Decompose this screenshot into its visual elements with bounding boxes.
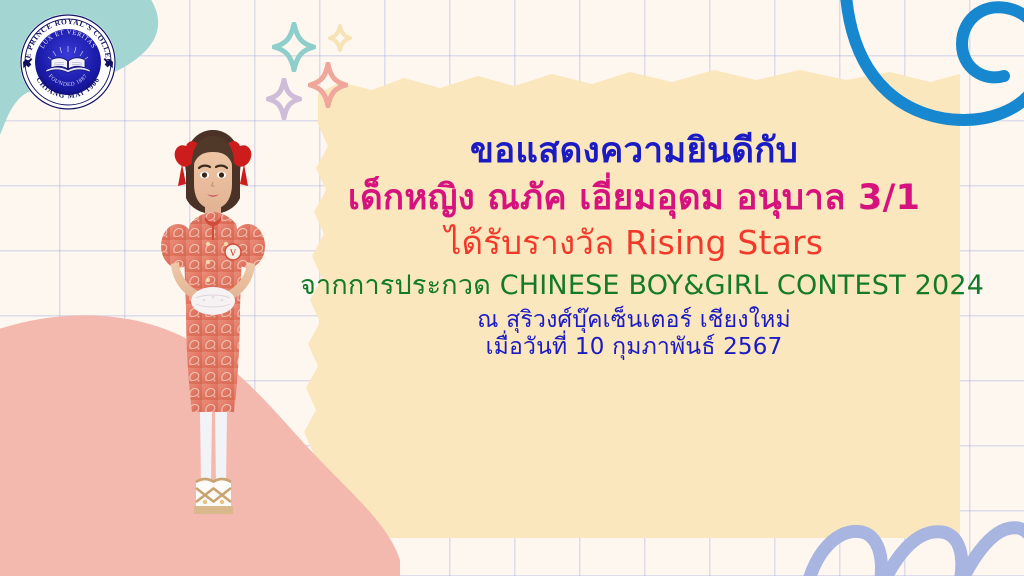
award-line: ได้รับรางวัล Rising Stars: [300, 225, 968, 262]
sparkle-salmon-icon: [308, 62, 348, 108]
date-line: เมื่อวันที่ 10 กุมภาพันธ์ 2567: [300, 335, 968, 361]
congratulations-poster: THE PRINCE ROYAL'S COLLEGE CHIANG MAI 19…: [0, 0, 1024, 576]
student-name-line: เด็กหญิง ณภัค เอี่ยมอุดม อนุบาล 3/1: [300, 179, 968, 218]
student-photo: V: [138, 112, 288, 532]
swirl-periwinkle-loops-decoration: [800, 470, 1024, 576]
school-logo: THE PRINCE ROYAL'S COLLEGE CHIANG MAI 19…: [18, 12, 118, 112]
congratulations-line: ขอแสดงความยินดีกับ: [300, 132, 968, 171]
svg-text:V: V: [230, 248, 237, 258]
venue-line: ณ สุริวงศ์บุ๊คเซ็นเตอร์ เชียงใหม่: [300, 308, 968, 334]
contest-line: จากการประกวด CHINESE BOY&GIRL CONTEST 20…: [300, 271, 968, 301]
message-text-block: ขอแสดงความยินดีกับ เด็กหญิง ณภัค เอี่ยมอ…: [300, 132, 968, 361]
sparkle-cream-icon: [328, 24, 352, 52]
